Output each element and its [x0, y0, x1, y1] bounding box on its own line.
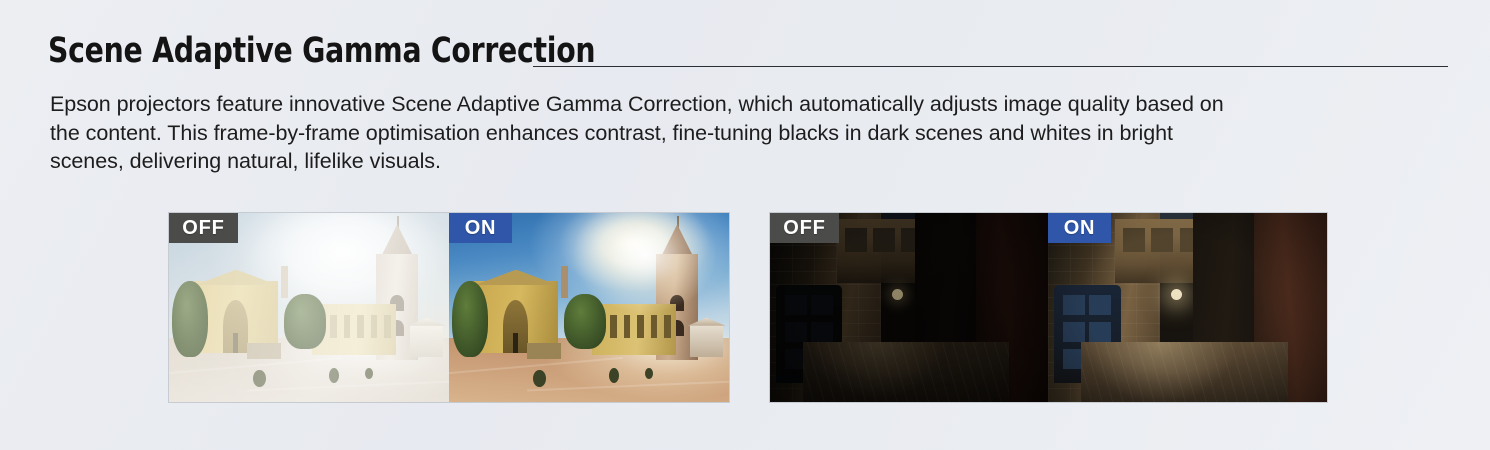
tree [452, 281, 488, 357]
dark-scene-on-pane: ON [1048, 213, 1327, 402]
cobblestone-street [1081, 342, 1287, 402]
window-shutters [1123, 228, 1201, 266]
marquee-tent [690, 325, 724, 357]
palazzo-windows [317, 315, 391, 338]
chimney [561, 266, 568, 298]
description-text: Epson projectors feature innovative Scen… [50, 90, 1470, 176]
badge-off: OFF [770, 213, 839, 243]
plaza-monument [527, 343, 561, 358]
shrub [533, 370, 546, 387]
shrub [365, 368, 373, 379]
shrub [329, 368, 339, 383]
shrub [253, 370, 266, 387]
church-portal [223, 300, 248, 353]
description-line-3: scenes, delivering natural, lifelike vis… [50, 147, 1470, 176]
palazzo-windows [597, 315, 671, 338]
church-door [513, 333, 518, 353]
marquee-tent [410, 325, 444, 357]
page-title: Scene Adaptive Gamma Correction [48, 30, 595, 72]
window-shutters [845, 228, 923, 266]
tree [284, 294, 326, 349]
tree [564, 294, 606, 349]
cobblestone-street [803, 342, 1009, 402]
shrub [645, 368, 653, 379]
bright-scene-on-pane: ON [449, 213, 729, 402]
description-line-1: Epson projectors feature innovative Scen… [50, 90, 1470, 119]
badge-off: OFF [169, 213, 238, 243]
shrub [609, 368, 619, 383]
badge-on: ON [1048, 213, 1111, 243]
dark-scene-off-pane: OFF [770, 213, 1048, 402]
church-portal [503, 300, 528, 353]
wall-lamp [892, 289, 903, 300]
badge-on: ON [449, 213, 512, 243]
comparison-group-bright-scene: OFF [169, 213, 729, 402]
bright-scene-off-pane: OFF [169, 213, 449, 402]
description-line-2: the content. This frame-by-frame optimis… [50, 119, 1470, 148]
plaza-monument [247, 343, 281, 358]
comparison-group-dark-scene: OFF [770, 213, 1327, 402]
church-door [233, 333, 238, 353]
section-header: Scene Adaptive Gamma Correction [48, 30, 1448, 76]
title-divider-rule [533, 66, 1448, 67]
tree [172, 281, 208, 357]
wall-lamp [1171, 289, 1182, 300]
chimney [281, 266, 288, 298]
